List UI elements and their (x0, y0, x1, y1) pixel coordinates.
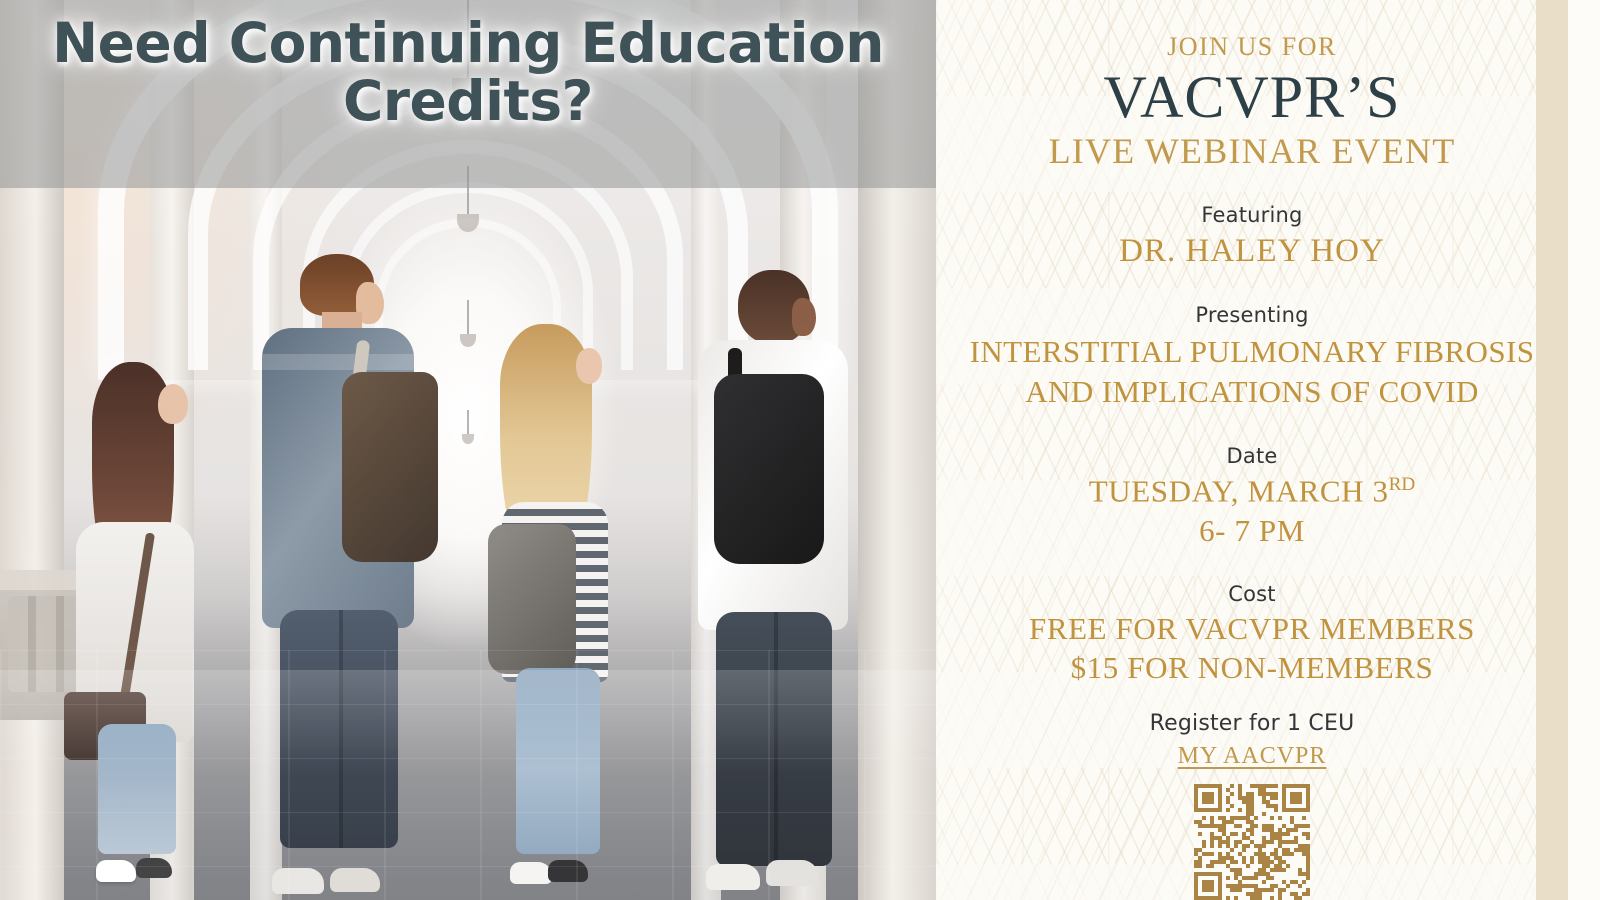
section-date: Date TUESDAY, MARCH 3RD 6- 7 PM (950, 444, 1554, 548)
my-aacvpr-link[interactable]: MY AACVPR (1178, 743, 1327, 770)
presenting-value-line1: INTERSTITIAL PULMONARY FIBROSIS (950, 334, 1554, 370)
event-subtitle: LIVE WEBINAR EVENT (950, 133, 1554, 169)
section-cost: Cost FREE FOR VACVPR MEMBERS $15 FOR NON… (950, 582, 1554, 685)
qr-code-icon[interactable] (1194, 780, 1310, 900)
register-label: Register for 1 CEU (950, 711, 1554, 737)
date-value-line2: 6- 7 PM (950, 514, 1554, 548)
date-text: TUESDAY, MARCH 3 (1089, 473, 1389, 508)
date-label: Date (950, 444, 1554, 469)
section-featuring: Featuring DR. HALEY HOY (950, 203, 1554, 269)
right-edge-strip (1536, 0, 1568, 900)
section-register: Register for 1 CEU MY AACVPR (950, 711, 1554, 770)
cost-value-line2: $15 FOR NON-MEMBERS (950, 651, 1554, 685)
cost-value-line1: FREE FOR VACVPR MEMBERS (950, 612, 1554, 646)
date-ordinal-suffix: RD (1389, 474, 1416, 495)
section-presenting: Presenting INTERSTITIAL PULMONARY FIBROS… (950, 303, 1554, 409)
info-panel: JOIN US FOR VACVPR’S LIVE WEBINAR EVENT … (936, 0, 1568, 900)
brand-title: VACVPR’S (950, 66, 1554, 129)
cost-label: Cost (950, 582, 1554, 607)
floor-gloss (0, 670, 936, 900)
event-kicker: JOIN US FOR (950, 34, 1554, 60)
featuring-value: DR. HALEY HOY (950, 233, 1554, 269)
page-title: Need Continuing Education Credits? (0, 14, 936, 131)
presenting-label: Presenting (950, 303, 1554, 328)
qr-code-wrap (950, 780, 1554, 900)
presenting-value-line2: AND IMPLICATIONS OF COVID (950, 374, 1554, 410)
featuring-label: Featuring (950, 203, 1554, 228)
event-flyer: Need Continuing Education Credits? JOIN … (0, 0, 1600, 900)
date-value-line1: TUESDAY, MARCH 3RD (950, 474, 1554, 508)
info-content: JOIN US FOR VACVPR’S LIVE WEBINAR EVENT … (936, 0, 1568, 900)
photo-panel: Need Continuing Education Credits? (0, 0, 936, 900)
